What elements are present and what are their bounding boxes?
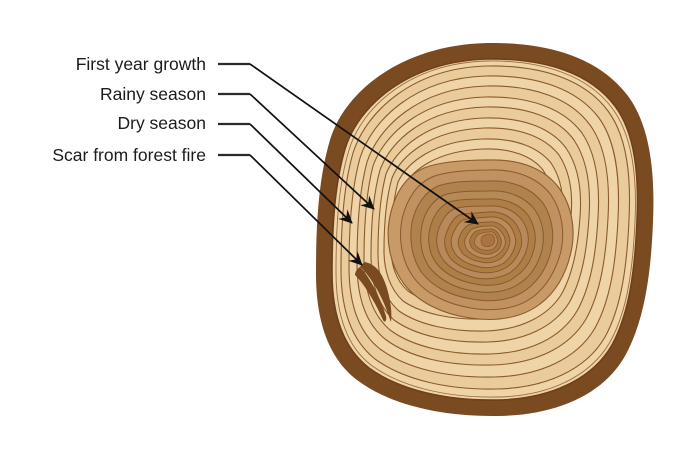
callout-scar-from-forest-fire[interactable]: Scar from forest fire xyxy=(52,145,362,265)
callout-dry-season[interactable]: Dry season xyxy=(117,113,352,223)
growth-rings-group xyxy=(336,61,635,397)
heartwood-region xyxy=(388,160,573,320)
tree-ring-diagram: First year growth Rainy season Dry seaso… xyxy=(0,0,680,450)
tree-cross-section-illustration: First year growth Rainy season Dry seaso… xyxy=(0,0,680,450)
pith-core xyxy=(481,234,495,247)
callout-label-scar-from-forest-fire: Scar from forest fire xyxy=(52,145,206,165)
callout-label-dry-season: Dry season xyxy=(117,113,206,133)
callout-label-rainy-season: Rainy season xyxy=(100,84,206,104)
callout-label-first-year-growth: First year growth xyxy=(76,54,206,74)
